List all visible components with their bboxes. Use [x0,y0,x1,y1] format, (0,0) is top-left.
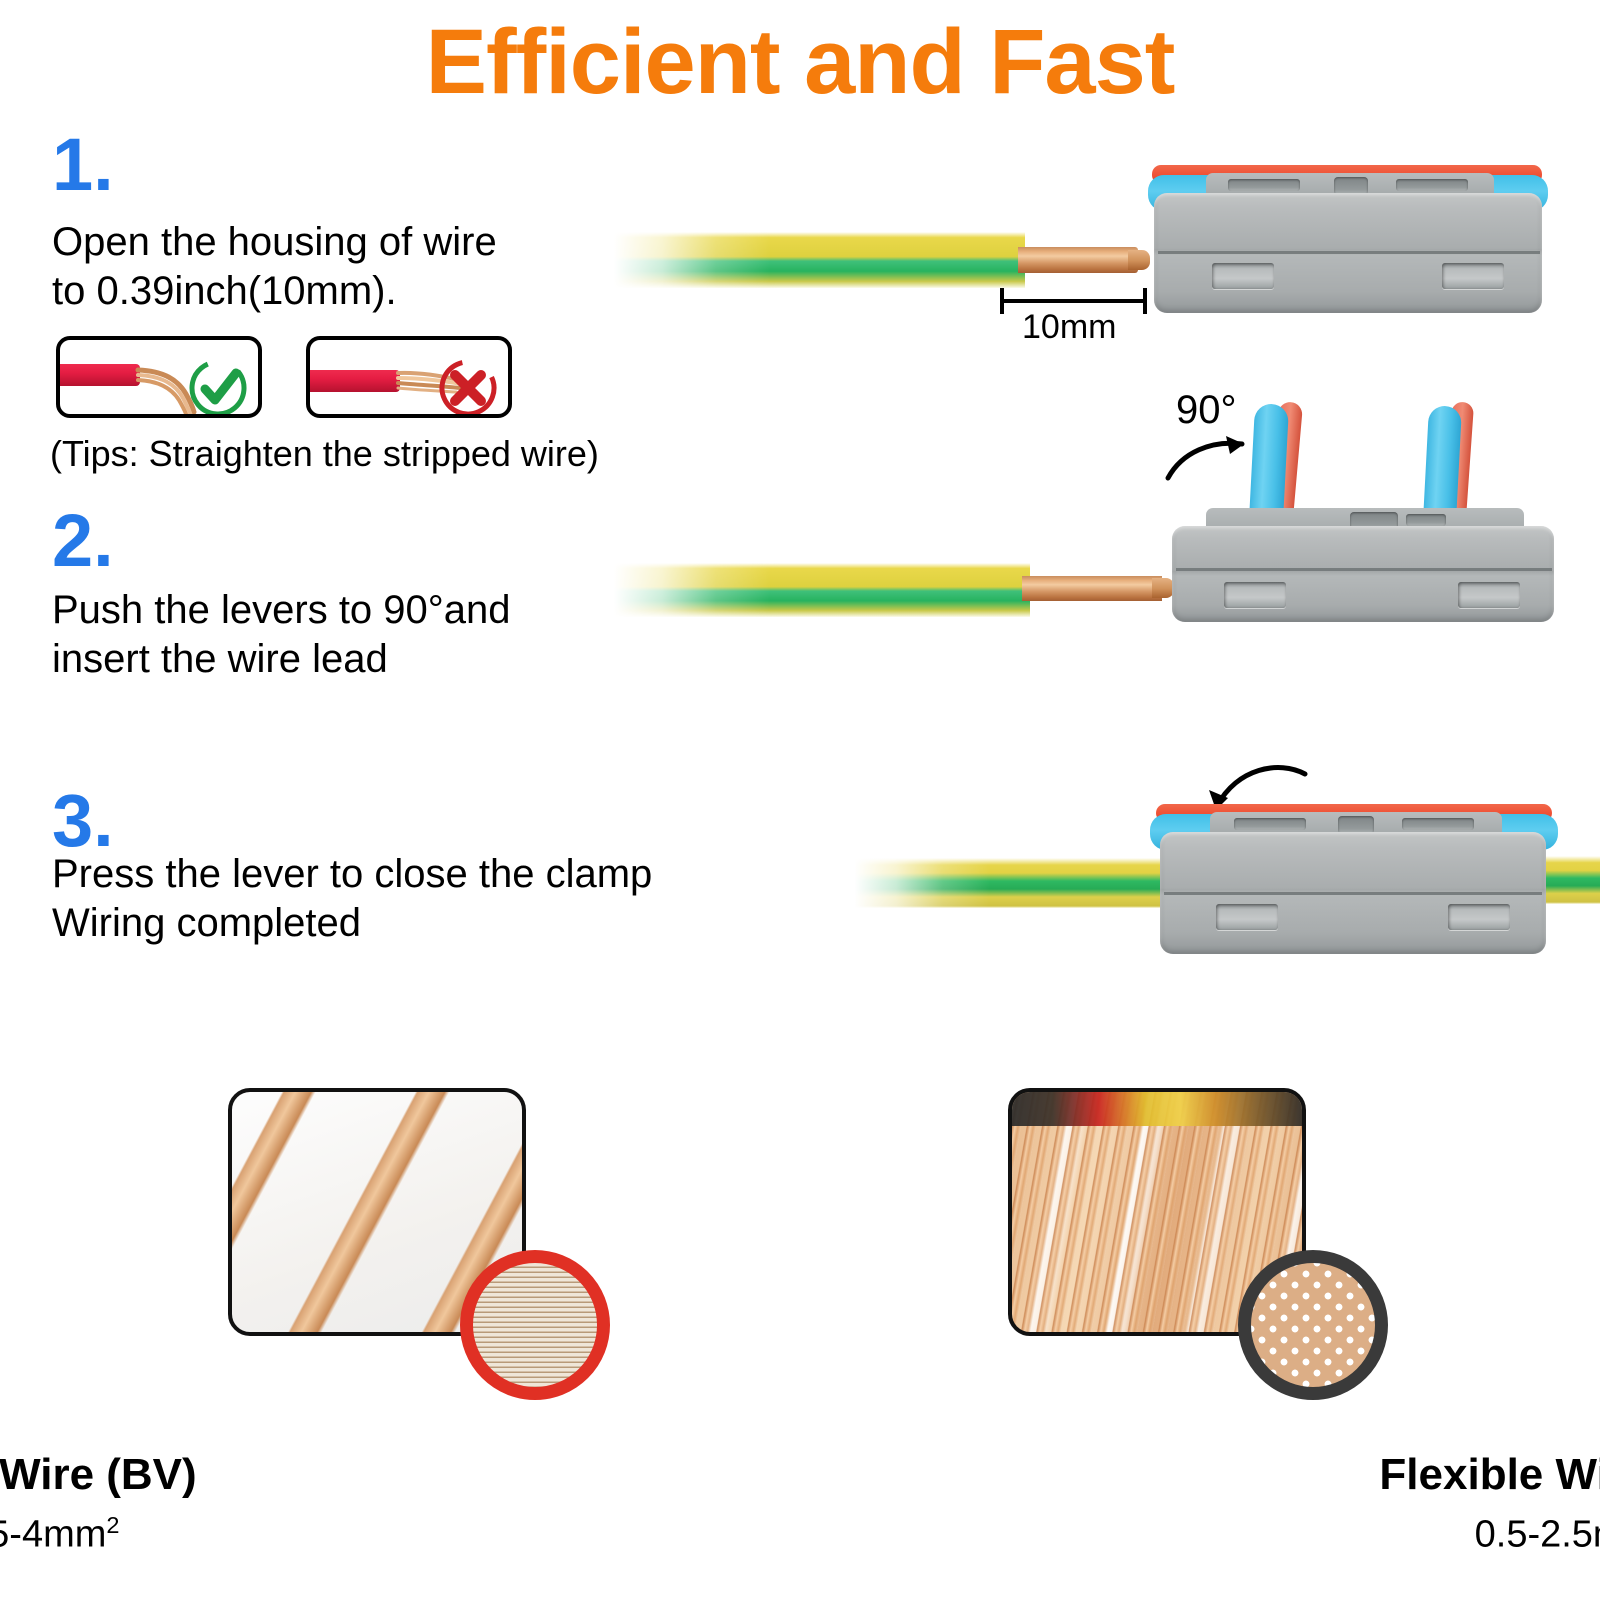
wire-fade-step-1 [572,228,872,294]
dimension-tick-left [1000,288,1004,314]
copper-tip-step-1 [1128,250,1150,270]
lever-up-blue-left [1249,403,1289,523]
connector-slot-left-step-3 [1234,818,1306,830]
solid-wire-range-value: 0.5-4mm [0,1514,106,1556]
connector-closed-step-3 [1138,800,1558,960]
connector-window-right-step-3 [1448,904,1510,930]
dimension-label: 10mm [1022,308,1116,347]
infographic-page: Efficient and Fast 1. Open the housing o… [0,0,1600,1600]
flexible-wire-range-value: 0.5-2.5mm [1475,1514,1600,1556]
solid-wire-title: Solid Wire (BV) [0,1450,838,1500]
solid-wire-cross-section-icon [460,1250,610,1400]
connector-window-left [1212,263,1274,289]
step-1-number: 1. [52,132,114,199]
connector-open-step-2 [1168,400,1558,625]
copper-lead-step-1 [1018,247,1138,273]
step-2-number: 2. [52,508,114,575]
flexible-wire-range: 0.5-2.5mm2 [772,1512,1600,1557]
connector-window-left-step-2 [1224,582,1286,608]
connector-slot-left [1228,179,1300,191]
flexible-wire-insulation-band [1012,1092,1302,1126]
connector-slot-right-step-2 [1406,514,1446,526]
step-3-text: Press the lever to close the clamp Wirin… [52,850,812,948]
connector-seam-step-3 [1164,892,1542,895]
page-title: Efficient and Fast [0,14,1600,111]
connector-seam-step-2 [1176,568,1552,571]
wire-fade-step-2 [572,559,872,623]
check-icon [60,340,262,418]
wire-fade-step-3 [818,854,1078,914]
connector-slot-right-step-3 [1402,818,1474,830]
dimension-tick-right [1143,288,1147,314]
copper-lead-step-2 [1022,576,1162,601]
connector-window-left-step-3 [1216,904,1278,930]
connector-seam [1158,251,1540,254]
connector-window-right-step-2 [1458,582,1520,608]
step-3-number: 3. [52,788,114,855]
flexible-wire-cross-section-icon [1238,1250,1388,1400]
connector-closed-step-1 [1148,163,1548,318]
solid-wire-range: 0.5-4mm2 [0,1512,838,1557]
tips-caption: (Tips: Straighten the stripped wire) [50,432,599,475]
cross-icon [310,340,512,418]
solid-wire-range-sup: 2 [106,1512,119,1538]
connector-window-right [1442,263,1504,289]
dimension-line [1000,299,1147,303]
connector-slot-right [1396,179,1468,191]
tip-box-incorrect [306,336,512,418]
flexible-wire-title: Flexible Wires(RV) [772,1450,1600,1500]
lever-up-blue-right [1423,405,1462,523]
tip-box-correct [56,336,262,418]
